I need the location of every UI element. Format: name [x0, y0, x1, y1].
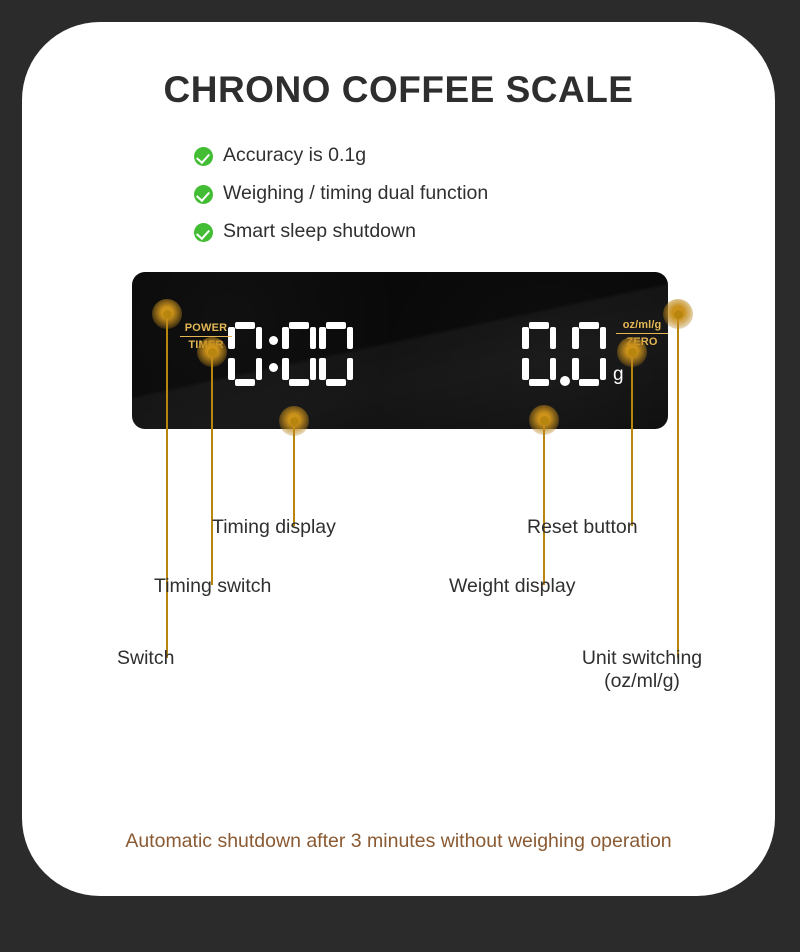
leader-line-switch: [166, 314, 168, 658]
leader-line-timing-switch: [211, 352, 213, 585]
unit-switching-line-1: Unit switching: [582, 647, 702, 669]
list-item: Smart sleep shutdown: [194, 213, 714, 251]
weight-unit-label: g: [613, 365, 624, 384]
leader-line-timing-display: [293, 421, 295, 526]
screenshot-root: CHRONO COFFEE SCALE Accuracy is 0.1g Wei…: [0, 0, 800, 952]
seven-segment-digit: [319, 322, 353, 386]
colon-separator: [265, 322, 282, 386]
timing-display-readout: 0:00: [228, 322, 356, 386]
unit-switching-line-2: (oz/ml/g): [604, 670, 680, 692]
feature-list: Accuracy is 0.1g Weighing / timing dual …: [194, 137, 714, 251]
unit-legend-top: oz/ml/g: [616, 319, 668, 331]
decimal-point: [559, 322, 572, 386]
power-timer-legend: POWER TIMER: [180, 322, 232, 351]
callout-label-reset-button: Reset button: [527, 516, 638, 539]
legend-divider: [616, 333, 668, 335]
power-legend-bottom: TIMER: [180, 339, 232, 351]
unit-legend-bottom: ZERO: [616, 336, 668, 348]
callout-label-timing-switch: Timing switch: [154, 575, 271, 598]
feature-label: Smart sleep shutdown: [223, 222, 416, 242]
seven-segment-digit: [282, 322, 316, 386]
seven-segment-digit: [572, 322, 606, 386]
feature-label: Accuracy is 0.1g: [223, 146, 366, 166]
callout-label-weight-display: Weight display: [449, 575, 575, 598]
unit-zero-legend: oz/ml/g ZERO: [616, 319, 668, 348]
legend-divider: [180, 336, 232, 338]
callout-label-unit-switching: Unit switching (oz/ml/g): [542, 647, 742, 693]
leader-line-unit-switching: [677, 314, 679, 658]
page-title: CHRONO COFFEE SCALE: [22, 69, 775, 111]
check-circle-icon: [194, 223, 213, 242]
list-item: Weighing / timing dual function: [194, 175, 714, 213]
auto-shutdown-note: Automatic shutdown after 3 minutes witho…: [22, 830, 775, 853]
seven-segment-digit: [522, 322, 556, 386]
check-circle-icon: [194, 185, 213, 204]
product-info-card: CHRONO COFFEE SCALE Accuracy is 0.1g Wei…: [22, 22, 775, 896]
callout-label-switch: Switch: [117, 647, 174, 670]
feature-label: Weighing / timing dual function: [223, 184, 488, 204]
leader-line-reset-button: [631, 352, 633, 526]
seven-segment-digit: [228, 322, 262, 386]
power-legend-top: POWER: [180, 322, 232, 334]
leader-line-weight-display: [543, 420, 545, 585]
list-item: Accuracy is 0.1g: [194, 137, 714, 175]
callout-label-timing-display: Timing display: [212, 516, 336, 539]
check-circle-icon: [194, 147, 213, 166]
weight-display-readout: 0.0 g: [522, 322, 624, 386]
